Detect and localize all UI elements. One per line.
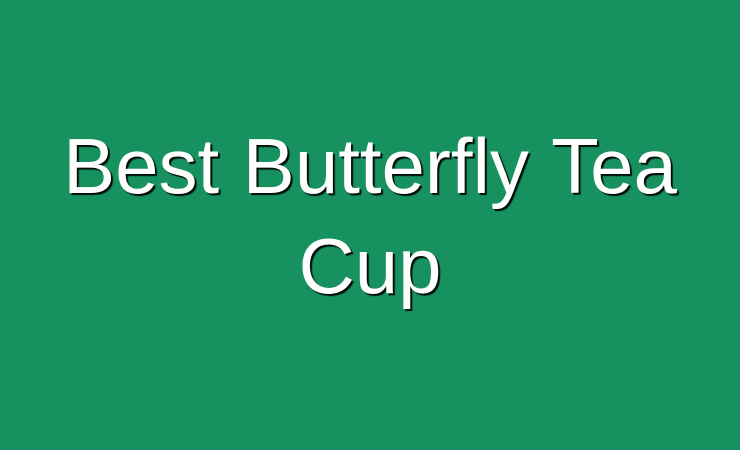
title-container: Best Butterfly Tea Cup: [40, 116, 700, 316]
title-banner: Best Butterfly Tea Cup: [0, 0, 740, 450]
page-title: Best Butterfly Tea Cup: [40, 116, 700, 316]
